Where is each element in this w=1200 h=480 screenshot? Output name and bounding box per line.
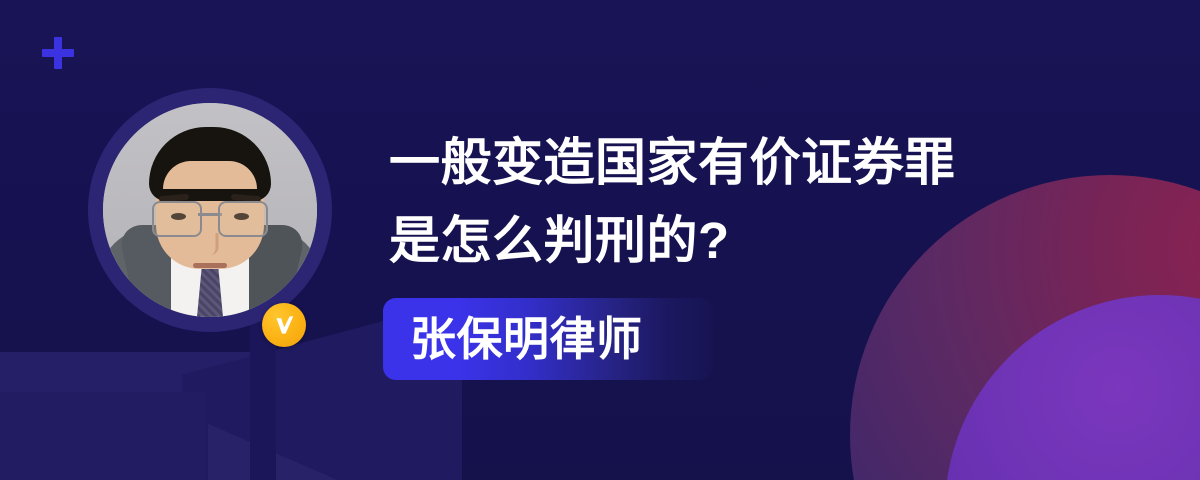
lawyer-name-label: 张保明律师: [410, 316, 643, 362]
plus-icon: [42, 37, 74, 69]
verified-check-icon: [262, 303, 306, 347]
page-title: 一般变造国家有价证券罪 是怎么判刑的?: [389, 124, 1089, 280]
lawyer-name-badge[interactable]: 张保明律师: [383, 298, 713, 380]
decorative-polygon-d: [0, 392, 206, 480]
avatar: [88, 88, 332, 332]
avatar-photo: [103, 103, 317, 317]
promo-card: 一般变造国家有价证券罪 是怎么判刑的? 张保明律师: [0, 0, 1200, 480]
